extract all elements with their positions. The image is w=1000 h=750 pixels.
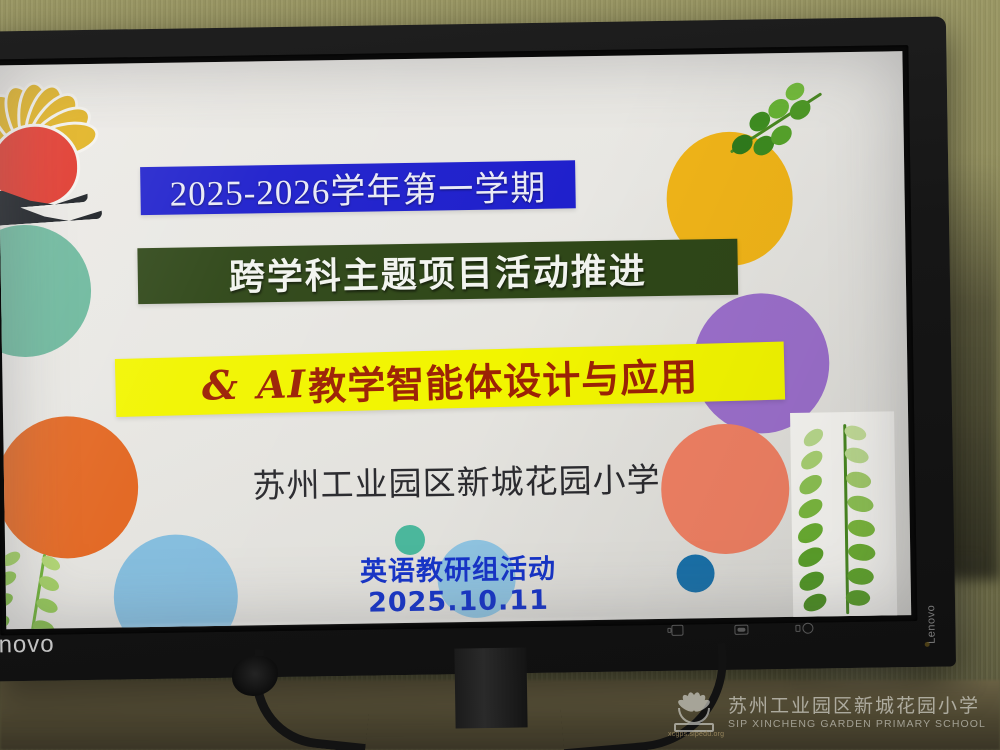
ai-label: AI: [256, 361, 306, 407]
watermark-chinese: 苏州工业园区新城花园小学: [728, 696, 986, 718]
school-logo-icon: xcgps.sipedu.org: [668, 690, 720, 736]
teal-circle: [0, 224, 92, 358]
monitor-screen[interactable]: 2025-2026学年第一学期 跨学科主题项目活动推进 & AI 教学智能体设计…: [0, 51, 911, 629]
presentation-slide: 2025-2026学年第一学期 跨学科主题项目活动推进 & AI 教学智能体设计…: [0, 51, 911, 629]
theme-text: 跨学科主题项目活动推进: [228, 242, 647, 301]
title-text: 教学智能体设计与应用: [307, 345, 698, 410]
sunflower-icon: [0, 73, 124, 226]
power-button-icon[interactable]: [795, 621, 815, 639]
monitor: 2025-2026学年第一学期 跨学科主题项目活动推进 & AI 教学智能体设计…: [0, 16, 956, 681]
watermark-text: 苏州工业园区新城花园小学 SIP XINCHENG GARDEN PRIMARY…: [728, 696, 986, 730]
title-banner: & AI 教学智能体设计与应用: [115, 342, 785, 417]
theme-banner: 跨学科主题项目活动推进: [137, 239, 738, 304]
term-text: 2025-2026学年第一学期: [169, 159, 546, 216]
lenovo-logo: novo: [0, 631, 55, 660]
lenovo-side-logo: Lenovo: [925, 605, 938, 644]
ampersand-glyph: &: [201, 361, 239, 409]
monitor-bezel-buttons[interactable]: [667, 621, 815, 641]
watermark-english: SIP XINCHENG GARDEN PRIMARY SCHOOL: [728, 718, 986, 730]
top-right-leaf-sprig: [708, 70, 847, 185]
room-scene: 2025-2026学年第一学期 跨学科主题项目活动推进 & AI 教学智能体设计…: [0, 0, 1000, 750]
input-source-button-icon[interactable]: [667, 623, 687, 641]
term-banner: 2025-2026学年第一学期: [140, 160, 576, 215]
watermark: xcgps.sipedu.org 苏州工业园区新城花园小学 SIP XINCHE…: [668, 690, 986, 736]
watermark-url: xcgps.sipedu.org: [668, 731, 724, 738]
power-led-indicator: [925, 642, 930, 647]
monitor-stand: [454, 647, 527, 728]
menu-button-icon[interactable]: [731, 622, 751, 640]
